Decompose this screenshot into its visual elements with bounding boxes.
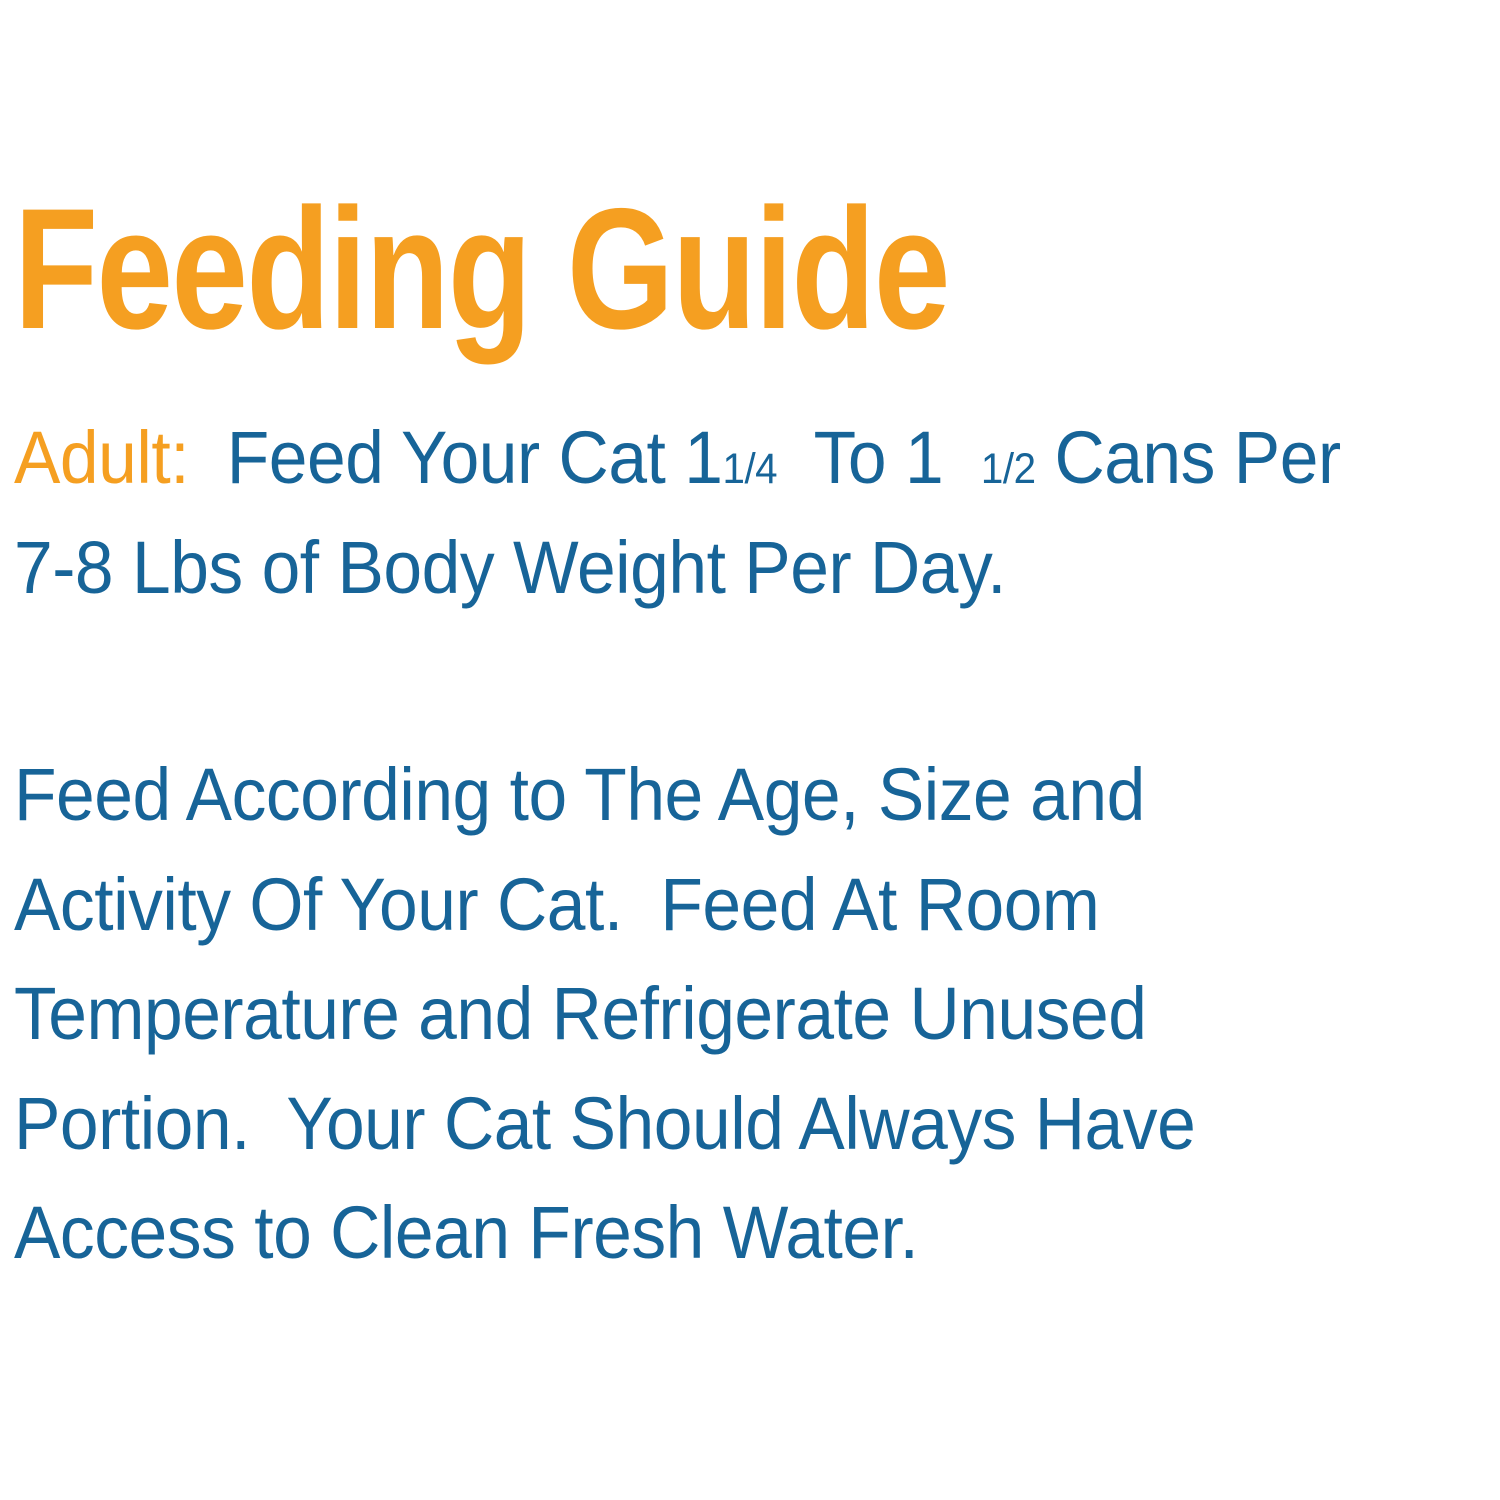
- adult-instruction-line-2: 7-8 Lbs of Body Weight Per Day.: [14, 513, 1403, 623]
- care-instruction-line: Activity Of Your Cat. Feed At Room: [14, 850, 1403, 960]
- adult-label: Adult:: [14, 416, 189, 499]
- adult-feeding-instruction: Adult: Feed Your Cat 11/4 To 1 1/2 Cans …: [14, 403, 1403, 622]
- adult-instruction-text-part-1: Feed Your Cat 1: [189, 416, 722, 499]
- care-instruction-line: Feed According to The Age, Size and: [14, 740, 1403, 850]
- page-title: Feeding Guide: [14, 188, 1196, 351]
- care-instruction-line: Access to Clean Fresh Water.: [14, 1178, 1403, 1288]
- adult-instruction-line-1: Adult: Feed Your Cat 11/4 To 1 1/2 Cans …: [14, 403, 1403, 513]
- adult-instruction-text-part-2: To 1: [777, 416, 981, 499]
- fraction-one-quarter: 1/4: [722, 445, 777, 493]
- feeding-guide-label: Feeding Guide Adult: Feed Your Cat 11/4 …: [0, 0, 1500, 1500]
- adult-instruction-text-part-3: Cans Per: [1036, 416, 1341, 499]
- label-panel: Feeding Guide Adult: Feed Your Cat 11/4 …: [14, 188, 1492, 1288]
- care-instruction-line: Temperature and Refrigerate Unused: [14, 959, 1403, 1069]
- care-instruction-line: Portion. Your Cat Should Always Have: [14, 1069, 1403, 1179]
- care-instructions-paragraph: Feed According to The Age, Size and Acti…: [14, 740, 1403, 1288]
- fraction-one-half: 1/2: [981, 445, 1036, 493]
